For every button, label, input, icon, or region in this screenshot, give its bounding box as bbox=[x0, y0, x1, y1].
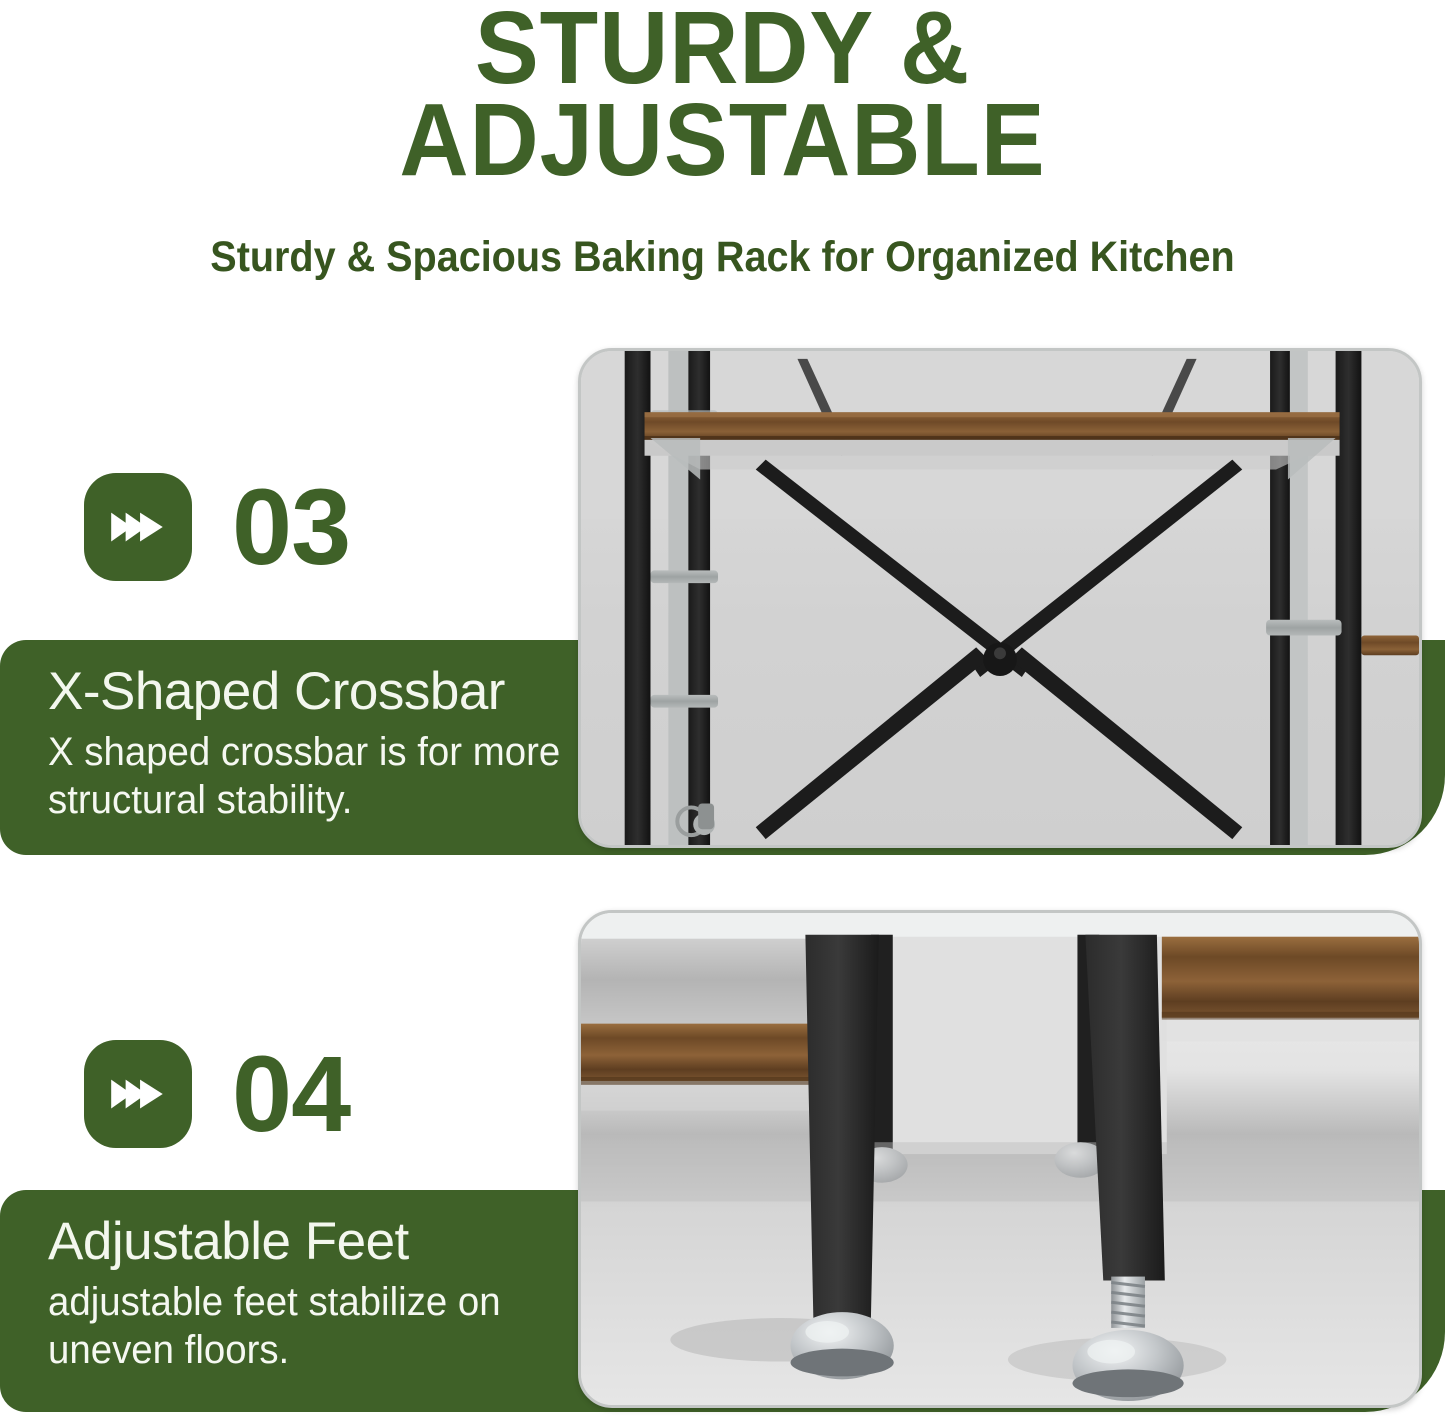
feature-block-03: 03 X-Shaped Crossbar X shaped crossbar i… bbox=[0, 340, 1445, 865]
page-title-line-2: ADJUSTABLE bbox=[51, 94, 1395, 186]
feature-photo-04 bbox=[578, 910, 1422, 1408]
page-title: STURDY & ADJUSTABLE bbox=[51, 2, 1395, 186]
feature-body-04: adjustable feet stabilize on uneven floo… bbox=[48, 1278, 586, 1374]
page-title-line-1: STURDY & bbox=[51, 2, 1395, 94]
feature-number-03: 03 bbox=[232, 473, 350, 581]
page-subtitle: Sturdy & Spacious Baking Rack for Organi… bbox=[58, 232, 1387, 282]
feature-number-04: 04 bbox=[232, 1040, 350, 1148]
header: STURDY & ADJUSTABLE Sturdy & Spacious Ba… bbox=[0, 0, 1445, 310]
feature-number-row-04: 04 bbox=[84, 1040, 350, 1148]
feature-body-03: X shaped crossbar is for more structural… bbox=[48, 728, 586, 824]
feature-photo-03 bbox=[578, 348, 1422, 848]
feature-block-04: 04 Adjustable Feet adjustable feet stabi… bbox=[0, 900, 1445, 1417]
feature-number-row-03: 03 bbox=[84, 473, 350, 581]
fast-forward-icon bbox=[84, 1040, 192, 1148]
fast-forward-icon bbox=[84, 473, 192, 581]
